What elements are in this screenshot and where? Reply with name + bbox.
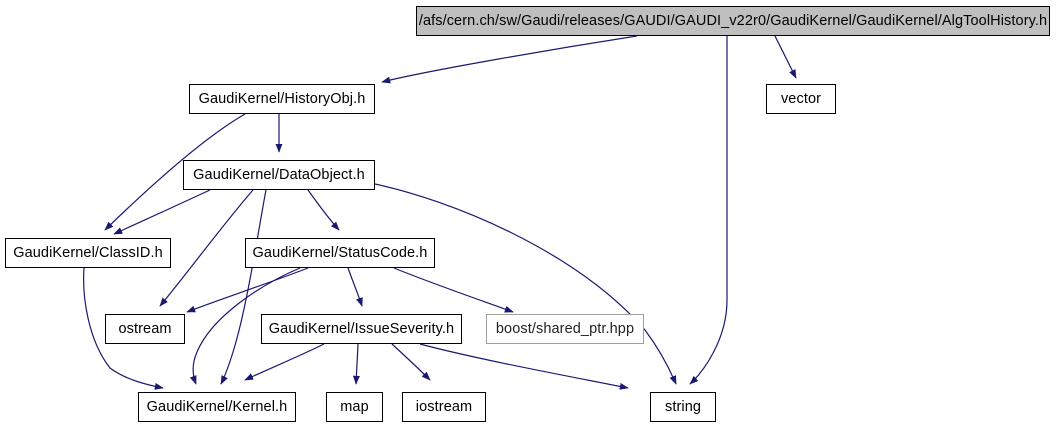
- edge-statuscode-to-boostsharedptr: [394, 268, 513, 312]
- graph-node-historyobj[interactable]: GaudiKernel/HistoryObj.h: [189, 84, 375, 114]
- graph-node-label-boostsharedptr: boost/shared_ptr.hpp: [494, 322, 636, 337]
- graph-node-ostream[interactable]: ostream: [105, 314, 185, 344]
- graph-node-label-kernel: GaudiKernel/Kernel.h: [145, 400, 290, 415]
- edge-statuscode-to-issueseverity: [348, 268, 362, 306]
- graph-node-kernel[interactable]: GaudiKernel/Kernel.h: [138, 392, 296, 422]
- graph-node-classid[interactable]: GaudiKernel/ClassID.h: [5, 238, 171, 268]
- graph-node-label-ostream: ostream: [116, 322, 173, 337]
- graph-node-issueseverity[interactable]: GaudiKernel/IssueSeverity.h: [261, 314, 462, 344]
- graph-node-dataobject[interactable]: GaudiKernel/DataObject.h: [183, 160, 375, 190]
- graph-node-label-dataobject: GaudiKernel/DataObject.h: [191, 168, 367, 183]
- graph-node-label-classid: GaudiKernel/ClassID.h: [11, 246, 165, 261]
- edge-layer: [0, 0, 1056, 427]
- edge-statuscode-to-ostream: [187, 268, 308, 312]
- include-dependency-graph: /afs/cern.ch/sw/Gaudi/releases/GAUDI/GAU…: [0, 0, 1056, 427]
- edge-root-to-historyobj: [382, 36, 637, 82]
- edge-dataobject-to-string: [375, 184, 676, 384]
- graph-node-map[interactable]: map: [326, 392, 383, 422]
- graph-node-root[interactable]: /afs/cern.ch/sw/Gaudi/releases/GAUDI/GAU…: [416, 6, 1050, 36]
- edge-issueseverity-to-iostream: [392, 344, 430, 380]
- graph-node-label-map: map: [338, 400, 371, 415]
- graph-node-statuscode[interactable]: GaudiKernel/StatusCode.h: [245, 238, 435, 268]
- graph-node-label-iostream: iostream: [414, 400, 474, 415]
- graph-node-label-issueseverity: GaudiKernel/IssueSeverity.h: [267, 322, 456, 337]
- graph-node-iostream[interactable]: iostream: [402, 392, 486, 422]
- graph-node-label-historyobj: GaudiKernel/HistoryObj.h: [197, 92, 368, 107]
- edge-root-to-string: [690, 36, 727, 384]
- graph-node-label-string: string: [663, 400, 703, 415]
- edge-issueseverity-to-kernel: [245, 344, 324, 380]
- graph-node-vector[interactable]: vector: [766, 84, 836, 114]
- graph-node-boostsharedptr[interactable]: boost/shared_ptr.hpp: [486, 314, 644, 344]
- edge-dataobject-to-statuscode: [308, 190, 339, 230]
- graph-node-string[interactable]: string: [650, 392, 716, 422]
- edge-dataobject-to-classid: [114, 190, 210, 234]
- edge-issueseverity-to-string: [420, 344, 628, 388]
- edge-dataobject-to-kernel: [221, 190, 266, 384]
- graph-node-label-statuscode: GaudiKernel/StatusCode.h: [251, 246, 430, 261]
- edge-dataobject-to-ostream: [160, 190, 253, 306]
- edge-issueseverity-to-map: [356, 344, 358, 384]
- graph-node-label-vector: vector: [779, 92, 823, 107]
- edge-root-to-vector: [775, 36, 796, 78]
- graph-node-label-root: /afs/cern.ch/sw/Gaudi/releases/GAUDI/GAU…: [417, 14, 1049, 29]
